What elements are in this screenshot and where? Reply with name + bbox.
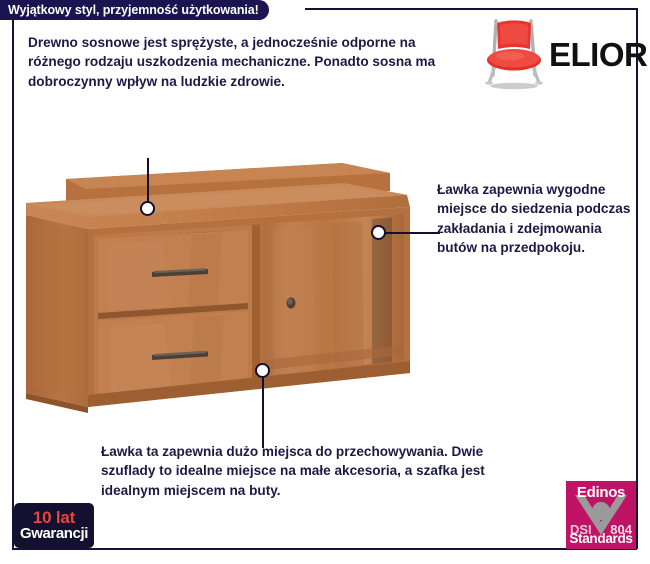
leader-line-right [385, 232, 440, 234]
brand-logo: ELIOR [483, 14, 631, 94]
warranty-badge: 10 lat Gwarancji [14, 503, 94, 548]
callout-text-right: Ławka zapewnia wygodne miejsce do siedze… [437, 180, 642, 257]
red-chair-icon [483, 15, 545, 93]
header-banner-label: Wyjątkowy styl, przyjemność użytkowania! [8, 3, 259, 17]
warranty-label: Gwarancji [20, 526, 88, 543]
header-banner: Wyjątkowy styl, przyjemność użytkowania! [0, 0, 269, 20]
callout-marker-right[interactable] [371, 225, 386, 240]
frame-border-right [636, 8, 638, 549]
edinos-standards-label: Standards [566, 531, 636, 546]
callout-marker-bottom[interactable] [255, 363, 270, 378]
bench-product-image [12, 155, 432, 420]
callout-text-top: Drewno sosnowe jest sprężyste, a jednocz… [28, 33, 458, 91]
callout-marker-top[interactable] [140, 201, 155, 216]
warranty-years-label: 10 lat [33, 509, 75, 526]
brand-name: ELIOR [549, 38, 647, 71]
product-infographic-page: Wyjątkowy styl, przyjemność użytkowania!… [0, 0, 650, 564]
edinos-title: Edinos [566, 484, 636, 501]
frame-border-bottom [12, 548, 637, 550]
callout-text-bottom: Ławka ta zapewnia dużo miejsca do przech… [101, 442, 541, 500]
leader-line-bottom [262, 370, 264, 448]
frame-border-top-right [305, 8, 637, 10]
edinos-certification-badge: Edinos DSI 804 Standards [566, 481, 636, 549]
